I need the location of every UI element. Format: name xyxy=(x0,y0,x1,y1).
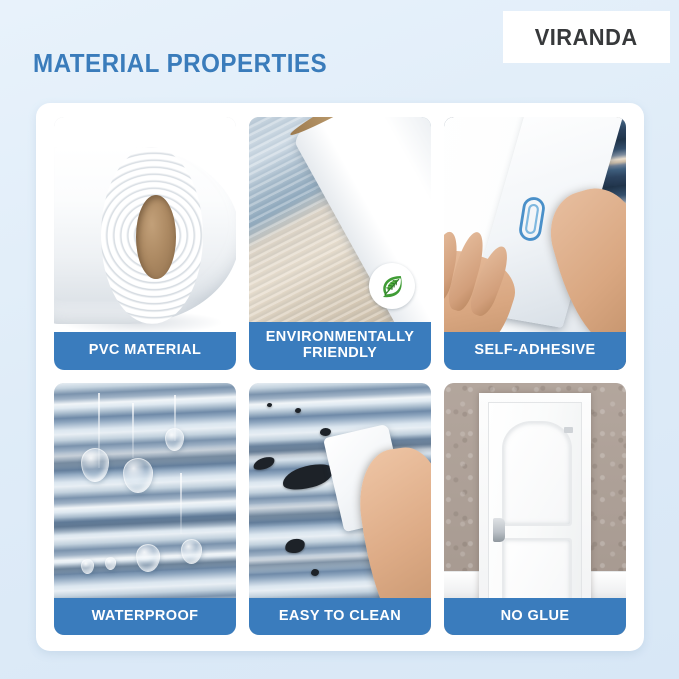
door-leaf xyxy=(488,402,583,625)
leaf-icon xyxy=(377,271,407,301)
card-label-environmentally-friendly: ENVIRONMENTALLY FRIENDLY xyxy=(249,322,431,369)
card-label-self-adhesive: SELF-ADHESIVE xyxy=(444,332,626,369)
droplet-trail xyxy=(180,473,182,534)
water-droplet xyxy=(105,557,116,570)
card-label-easy-to-clean: EASY TO CLEAN xyxy=(249,598,431,635)
card-label-pvc-material: PVC MATERIAL xyxy=(54,332,236,369)
brand-logo-box: VIRANDA xyxy=(503,11,670,63)
water-droplet xyxy=(81,448,109,482)
door-frame xyxy=(479,393,592,625)
pvc-roll-core xyxy=(136,195,176,278)
feature-grid: PVC MATERIAL xyxy=(54,117,626,635)
feature-card-no-glue: NO GLUE xyxy=(444,383,626,636)
door-hinge xyxy=(564,427,573,433)
feature-card-self-adhesive: SELF-ADHESIVE xyxy=(444,117,626,370)
brand-name: VIRANDA xyxy=(535,24,638,51)
feature-card-environmentally-friendly: ENVIRONMENTALLY FRIENDLY xyxy=(249,117,431,370)
dirt-stain xyxy=(320,428,331,436)
dirt-stain xyxy=(284,537,306,554)
page-header: MATERIAL PROPERTIES VIRANDA xyxy=(0,0,679,103)
door-panel-top xyxy=(502,421,573,527)
card-label-waterproof: WATERPROOF xyxy=(54,598,236,635)
feature-card-pvc-material: PVC MATERIAL xyxy=(54,117,236,370)
door-handle xyxy=(493,518,505,542)
dirt-stain xyxy=(267,403,272,407)
dirt-stain xyxy=(295,408,301,413)
dirt-stain xyxy=(280,460,336,494)
dirt-stain xyxy=(311,569,319,576)
water-droplet xyxy=(123,458,153,493)
card-label-no-glue: NO GLUE xyxy=(444,598,626,635)
feature-panel: PVC MATERIAL xyxy=(36,103,644,651)
eco-leaf-badge xyxy=(369,263,415,309)
feature-card-waterproof: WATERPROOF xyxy=(54,383,236,636)
rolled-wallpaper-edge xyxy=(288,117,431,140)
droplet-trail xyxy=(132,403,134,459)
feature-card-easy-to-clean: EASY TO CLEAN xyxy=(249,383,431,636)
page-title: MATERIAL PROPERTIES xyxy=(33,48,327,79)
texture-stripe xyxy=(54,509,236,535)
